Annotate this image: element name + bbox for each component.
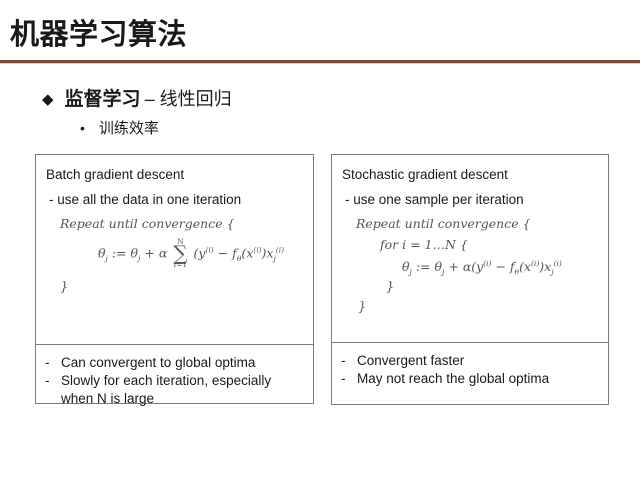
- stoch-theta-rhs-sub: j: [442, 267, 444, 276]
- batch-sum-lower-limit: i=1: [174, 261, 187, 269]
- stochastic-note-text: Convergent faster: [357, 352, 600, 369]
- bullet-level1-rest-label: – 线性回归: [145, 85, 232, 111]
- panel-stochastic-body: Stochastic gradient descent - use one sa…: [332, 155, 608, 342]
- stoch-xj-subscript: j: [551, 267, 553, 276]
- batch-plus-sign: +: [144, 246, 154, 261]
- bullet-level1-strong-label: 监督学习: [65, 84, 141, 111]
- stochastic-inner-closing-brace: }: [386, 280, 598, 296]
- panel-stochastic-notes: - Convergent faster - May not reach the …: [332, 343, 608, 388]
- title-divider-rule: [0, 60, 640, 64]
- panel-batch-notes: - Can convergent to global optima - Slow…: [36, 345, 313, 407]
- batch-notes-list: - Can convergent to global optima - Slow…: [45, 354, 305, 407]
- stochastic-note-text: May not reach the global optima: [357, 370, 600, 387]
- list-item: - Convergent faster: [341, 352, 600, 369]
- panel-batch-gradient-descent: Batch gradient descent - use all the dat…: [35, 154, 314, 404]
- batch-sum-glyph: ∑: [173, 245, 187, 262]
- list-item: - Can convergent to global optima: [45, 354, 305, 371]
- stoch-assign-op: :=: [416, 259, 431, 274]
- round-bullet-icon: •: [80, 121, 85, 135]
- dash-bullet-icon: -: [341, 370, 357, 387]
- batch-theta-lhs: θ: [98, 246, 106, 261]
- batch-update-equation: θj := θj + α N ∑ i=1 (y(i) − fθ(x(i))xj(…: [98, 239, 303, 269]
- page-title: 机器学习算法: [10, 20, 187, 50]
- panel-stochastic-gradient-descent: Stochastic gradient descent - use one sa…: [331, 154, 609, 405]
- stochastic-repeat-line: Repeat until convergence {: [356, 216, 598, 232]
- diamond-bullet-icon: ◆: [42, 92, 54, 107]
- panel-batch-body: Batch gradient descent - use all the dat…: [36, 155, 313, 344]
- stoch-minus-f: − f: [495, 259, 514, 274]
- stoch-theta-lhs: θ: [402, 259, 410, 274]
- batch-term-x: (x: [241, 246, 253, 261]
- stochastic-outer-closing-brace: }: [358, 300, 598, 316]
- stoch-term-close-x: )x: [539, 259, 551, 274]
- dash-bullet-icon: -: [45, 372, 61, 407]
- batch-theta-rhs-sub: j: [138, 254, 140, 263]
- list-item: - May not reach the global optima: [341, 370, 600, 387]
- batch-theta-lhs-sub: j: [106, 254, 108, 263]
- panel-batch-heading: Batch gradient descent: [46, 167, 303, 183]
- batch-y-superscript: (i): [205, 245, 213, 254]
- batch-repeat-line: Repeat until convergence {: [60, 216, 303, 232]
- panel-stochastic-pseudocode: Repeat until convergence { for i = 1…N {…: [342, 216, 598, 315]
- batch-note-text: Slowly for each iteration, especially wh…: [61, 372, 305, 407]
- stoch-theta-rhs: θ: [435, 259, 443, 274]
- stochastic-notes-list: - Convergent faster - May not reach the …: [341, 352, 600, 388]
- batch-alpha-symbol: α: [159, 246, 167, 261]
- batch-summation-icon: N ∑ i=1: [173, 238, 187, 268]
- stochastic-update-equation: θj := θj + α(y(i) − fθ(x(i))xj(i): [402, 259, 598, 275]
- batch-theta-rhs: θ: [131, 246, 139, 261]
- list-item: - Slowly for each iteration, especially …: [45, 372, 305, 407]
- batch-note-text: Can convergent to global optima: [61, 354, 305, 371]
- bullet-level1: ◆ 监督学习 – 线性回归: [42, 84, 232, 111]
- batch-closing-brace: }: [60, 280, 303, 296]
- batch-minus-f: − f: [218, 246, 237, 261]
- stochastic-for-line: for i = 1…N {: [380, 237, 598, 253]
- batch-xj-superscript: (i): [276, 245, 284, 254]
- stoch-theta-lhs-sub: j: [410, 267, 412, 276]
- stoch-alpha-symbol: α(y: [463, 259, 483, 274]
- stoch-plus-sign: +: [448, 259, 458, 274]
- bullet-level2-label: 训练效率: [99, 117, 159, 138]
- stoch-y-superscript: (i): [483, 258, 491, 267]
- stoch-term-x: (x: [519, 259, 531, 274]
- batch-xj-subscript: j: [273, 254, 275, 263]
- panel-stochastic-subheading: - use one sample per iteration: [345, 192, 598, 208]
- batch-term-y: (y: [194, 246, 206, 261]
- stoch-xj-superscript: (i): [554, 258, 562, 267]
- batch-x-superscript: (i): [253, 245, 261, 254]
- panel-batch-pseudocode: Repeat until convergence { θj := θj + α …: [46, 216, 303, 296]
- dash-bullet-icon: -: [341, 352, 357, 369]
- panel-batch-subheading: - use all the data in one iteration: [49, 192, 303, 208]
- batch-assign-op: :=: [112, 246, 127, 261]
- batch-term-close-x: )x: [262, 246, 274, 261]
- panel-stochastic-heading: Stochastic gradient descent: [342, 167, 598, 183]
- dash-bullet-icon: -: [45, 354, 61, 371]
- bullet-level2: • 训练效率: [80, 117, 159, 138]
